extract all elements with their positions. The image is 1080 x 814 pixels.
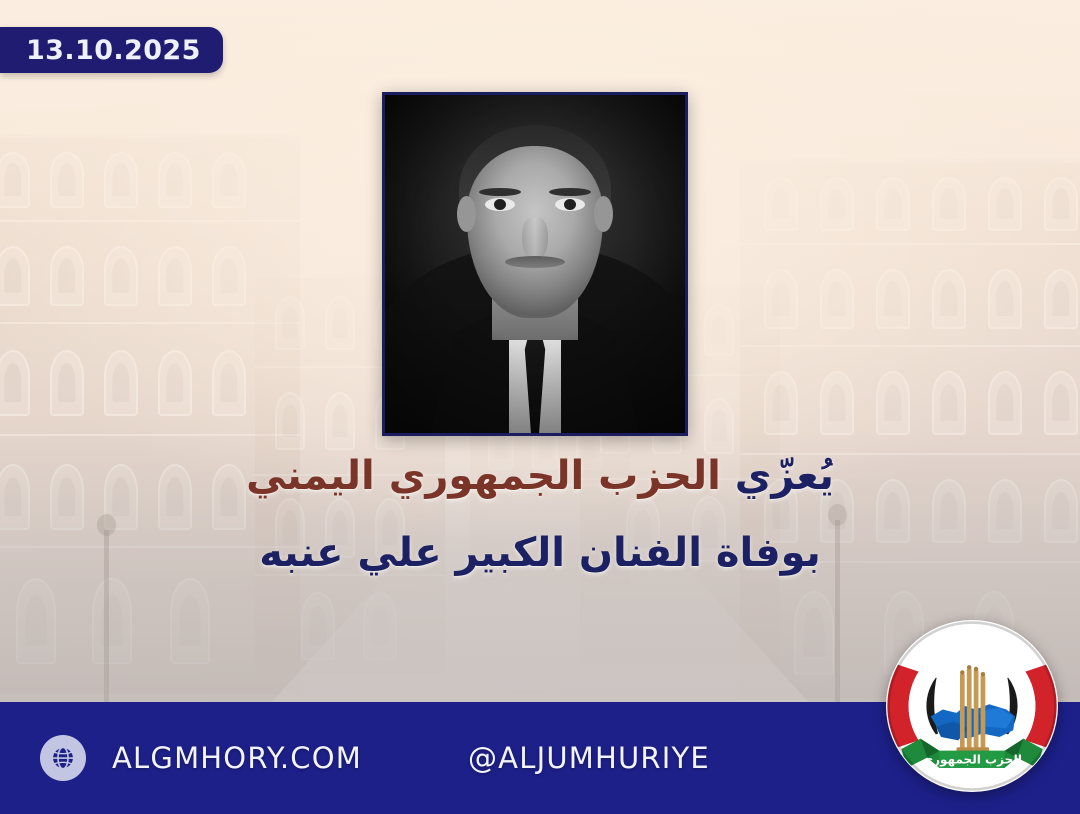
social-handle[interactable]: @ALJUMHURIYE (468, 741, 710, 775)
date-badge: 13.10.2025 (0, 27, 223, 73)
portrait-photo (385, 95, 685, 433)
date-badge-text: 13.10.2025 (26, 37, 201, 64)
headline-line-1-navy: يُعزّي (735, 453, 834, 499)
portrait-frame (382, 92, 688, 436)
footer-content: ALGMHORY.COM @ALJUMHURIYE (0, 735, 710, 781)
globe-icon (40, 735, 86, 781)
website-url[interactable]: ALGMHORY.COM (112, 741, 362, 775)
party-logo-ribbon-text: الحزب الجمهوري (922, 753, 1022, 768)
portrait-vignette (385, 95, 685, 433)
headline-line-1: يُعزّي الحزب الجمهوري اليمني (0, 452, 1080, 501)
party-logo: الحزب الجمهوري (886, 620, 1058, 792)
headline-line-2: بوفاة الفنان الكبير علي عنبه (0, 529, 1080, 578)
obituary-card: 13.10.2025 يُعزّي الحزب الجمهوري اليمني … (0, 0, 1080, 814)
headline: يُعزّي الحزب الجمهوري اليمني بوفاة الفنا… (0, 452, 1080, 578)
headline-line-1-maroon: الحزب الجمهوري اليمني (246, 453, 721, 499)
